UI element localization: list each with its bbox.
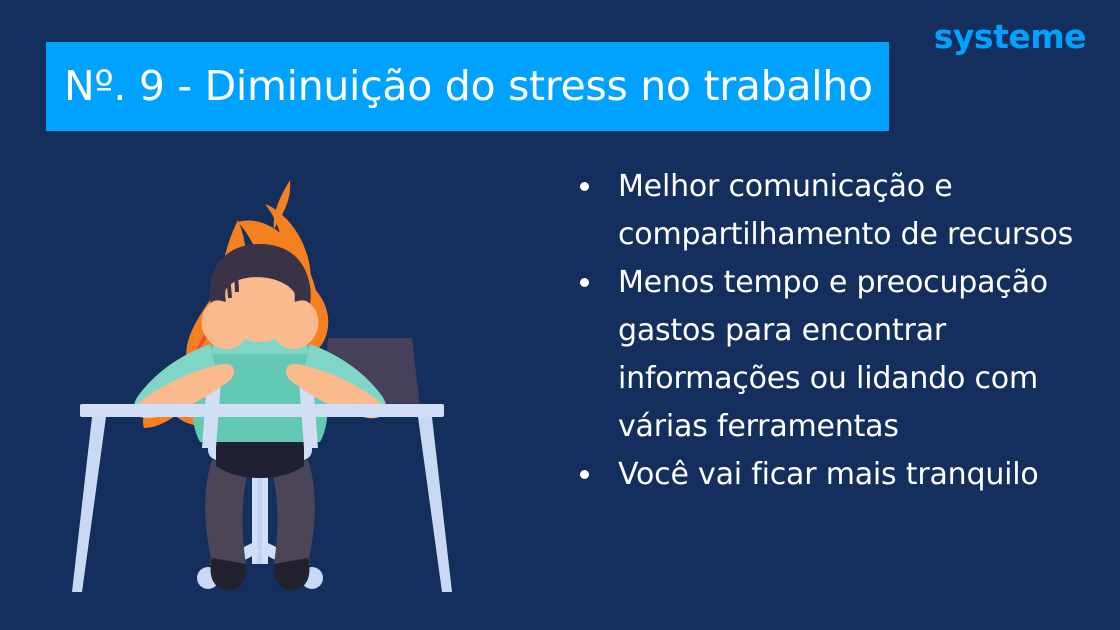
bullet-text: Menos tempo e preocupação gastos para en… xyxy=(618,259,1105,451)
bullet-text: Melhor comunicação e compartilhamento de… xyxy=(618,163,1105,259)
bullet-dot-icon xyxy=(580,278,589,287)
bullet-dot-icon xyxy=(580,182,589,191)
bullet-text: Você vai ficar mais tranquilo xyxy=(618,451,1039,499)
illustration-svg xyxy=(60,160,460,600)
bullet-dot-icon xyxy=(580,470,589,479)
list-item: Você vai ficar mais tranquilo xyxy=(580,451,1105,499)
illustration-stressed-worker xyxy=(60,160,460,600)
slide-root: systeme Nº. 9 - Diminuição do stress no … xyxy=(0,0,1120,630)
list-item: Melhor comunicação e compartilhamento de… xyxy=(580,163,1105,259)
list-item: Menos tempo e preocupação gastos para en… xyxy=(580,259,1105,451)
title-banner: Nº. 9 - Diminuição do stress no trabalho xyxy=(46,42,889,131)
bullet-list: Melhor comunicação e compartilhamento de… xyxy=(580,163,1105,499)
systeme-logo: systeme xyxy=(934,20,1086,53)
page-title: Nº. 9 - Diminuição do stress no trabalho xyxy=(46,66,873,107)
